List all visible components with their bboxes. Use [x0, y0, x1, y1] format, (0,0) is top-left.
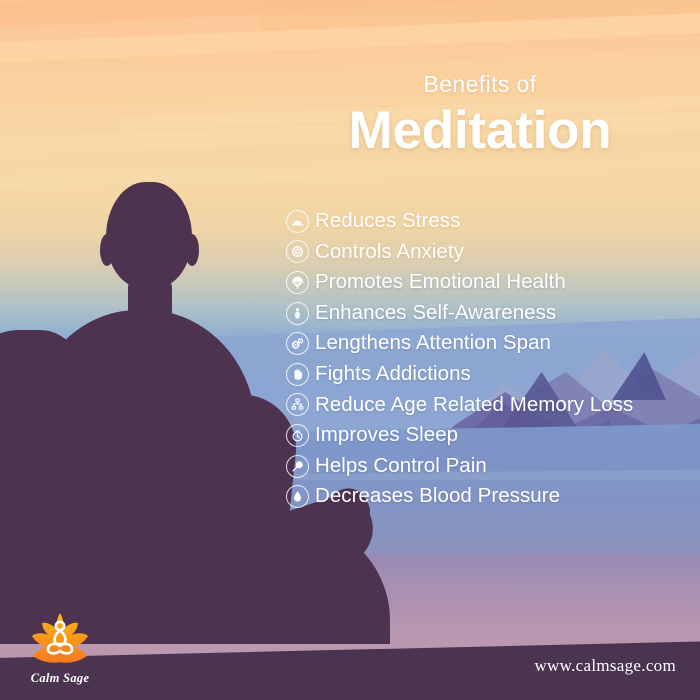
- benefit-label: Fights Addictions: [315, 364, 471, 385]
- benefit-label: Controls Anxiety: [315, 242, 464, 263]
- benefit-item: Promotes Emotional Health: [286, 267, 686, 298]
- benefits-list: Reduces StressControls AnxietyPromotes E…: [286, 206, 686, 512]
- benefit-item: Reduces Stress: [286, 206, 686, 237]
- heading-eyebrow: Benefits of: [300, 72, 660, 97]
- benefit-item: Lengthens Attention Span: [286, 328, 686, 359]
- parachute-heart-icon: [286, 271, 309, 294]
- stop-hand-icon: [286, 363, 309, 386]
- brand-name: Calm Sage: [14, 671, 106, 686]
- gears-focus-icon: [286, 332, 309, 355]
- gear-brain-icon: [286, 240, 309, 263]
- benefit-item: Reduce Age Related Memory Loss: [286, 390, 686, 421]
- benefit-item: Fights Addictions: [286, 359, 686, 390]
- person-circle-icon: [286, 302, 309, 325]
- benefit-label: Reduces Stress: [315, 211, 460, 232]
- meditation-benefits-poster: Benefits of Meditation Reduces StressCon…: [0, 0, 700, 700]
- benefit-item: Enhances Self-Awareness: [286, 298, 686, 329]
- benefit-label: Enhances Self-Awareness: [315, 303, 556, 324]
- benefit-item: Improves Sleep: [286, 420, 686, 451]
- alarm-clock-icon: [286, 424, 309, 447]
- benefit-label: Improves Sleep: [315, 425, 458, 446]
- blood-drop-icon: [286, 485, 309, 508]
- benefit-item: Decreases Blood Pressure: [286, 481, 686, 512]
- benefit-item: Controls Anxiety: [286, 237, 686, 268]
- benefit-label: Reduce Age Related Memory Loss: [315, 395, 633, 416]
- benefit-label: Decreases Blood Pressure: [315, 486, 560, 507]
- benefit-label: Promotes Emotional Health: [315, 272, 566, 293]
- silhouette-torso: [28, 310, 256, 560]
- website-url: www.calmsage.com: [534, 656, 676, 676]
- benefit-item: Helps Control Pain: [286, 451, 686, 482]
- page-title: Meditation: [300, 101, 660, 160]
- benefit-label: Lengthens Attention Span: [315, 333, 551, 354]
- benefit-label: Helps Control Pain: [315, 456, 487, 477]
- pain-pin-icon: [286, 455, 309, 478]
- poster-heading: Benefits of Meditation: [300, 72, 660, 161]
- silhouette-head: [106, 182, 192, 288]
- brand-logo[interactable]: Calm Sage: [14, 611, 106, 686]
- lotus-meditation-icon: [29, 611, 91, 669]
- network-memory-icon: [286, 393, 309, 416]
- sunrise-dome-icon: [286, 210, 309, 233]
